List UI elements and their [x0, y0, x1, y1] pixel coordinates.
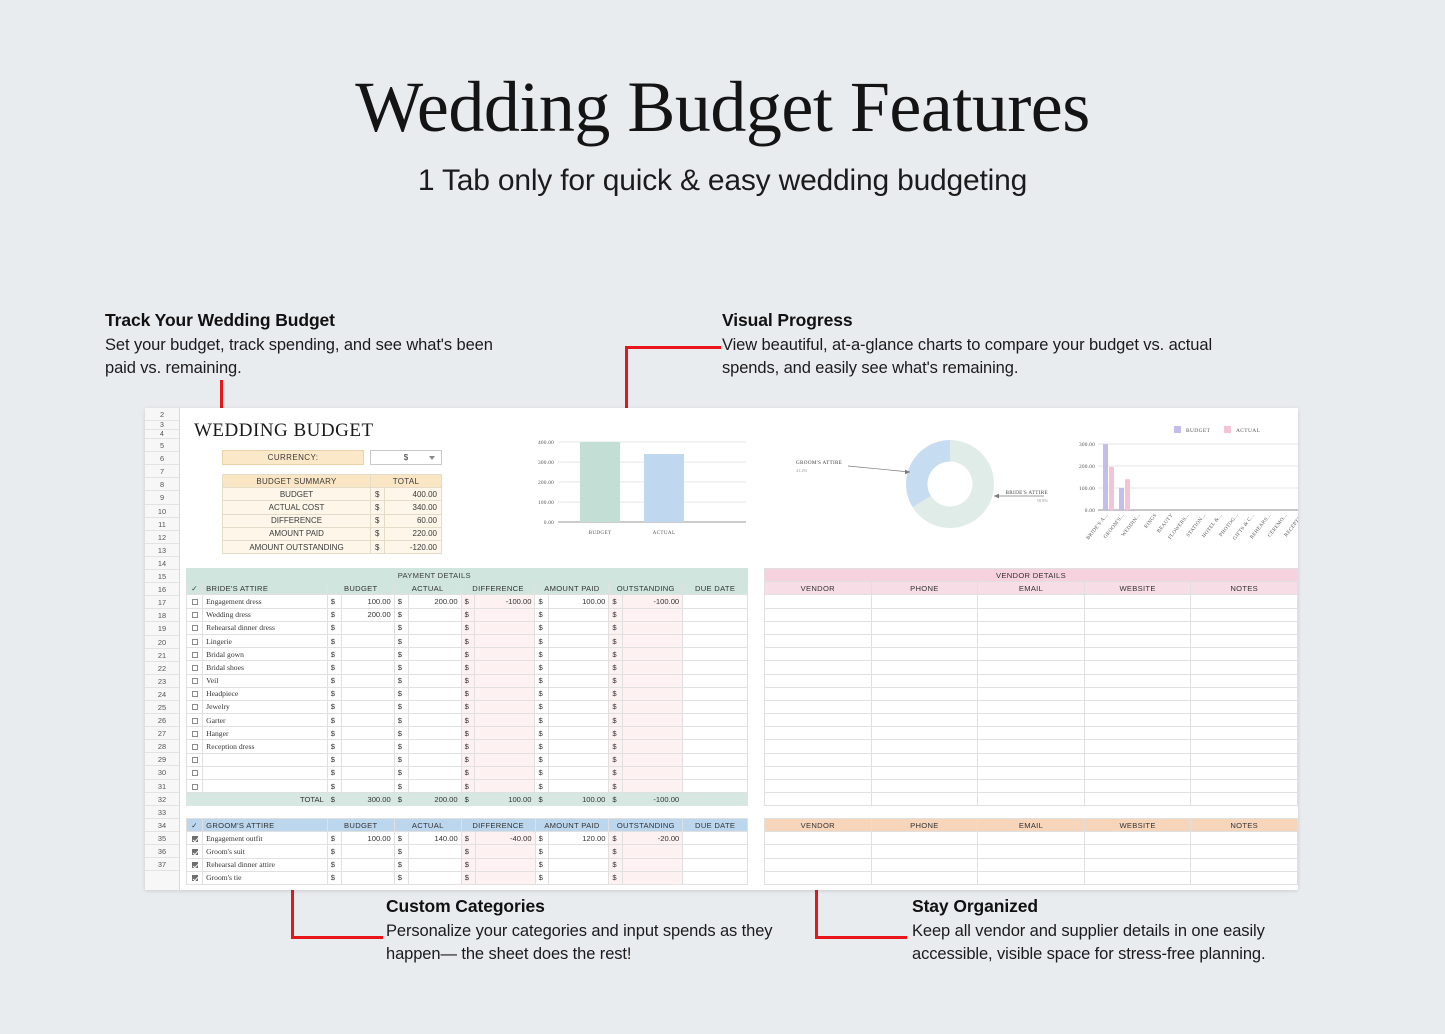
- chevron-down-icon[interactable]: [429, 456, 435, 460]
- row-number[interactable]: 24: [145, 688, 179, 701]
- vendor-row[interactable]: [765, 608, 1298, 621]
- vendor-cell[interactable]: [1191, 648, 1298, 661]
- vendor-cell[interactable]: [765, 595, 872, 608]
- cell-amount[interactable]: [623, 634, 683, 647]
- cell-currency[interactable]: $: [461, 871, 475, 884]
- cell-currency[interactable]: $: [609, 595, 623, 608]
- cell-amount[interactable]: [623, 714, 683, 727]
- vendor-cell[interactable]: [1191, 871, 1298, 884]
- vendor-cell[interactable]: [1084, 700, 1191, 713]
- row-number[interactable]: 5: [145, 439, 179, 452]
- vendor-cell[interactable]: [978, 608, 1085, 621]
- vendor-row[interactable]: [765, 595, 1298, 608]
- cell-currency[interactable]: $: [327, 832, 341, 845]
- row-checkbox[interactable]: [192, 678, 198, 684]
- table-row[interactable]: $$$$$: [187, 753, 748, 766]
- row-number[interactable]: 31: [145, 780, 179, 793]
- vendor-cell[interactable]: [871, 753, 978, 766]
- cell-currency[interactable]: $: [394, 714, 408, 727]
- vendor-cell[interactable]: [1084, 661, 1191, 674]
- cell-due-date[interactable]: [683, 727, 748, 740]
- cell-amount[interactable]: [341, 780, 394, 793]
- cell-due-date[interactable]: [683, 648, 748, 661]
- vendor-cell[interactable]: [871, 714, 978, 727]
- cell-amount[interactable]: [475, 608, 535, 621]
- cell-amount[interactable]: [341, 621, 394, 634]
- cell-amount[interactable]: [341, 714, 394, 727]
- vendor-cell[interactable]: [1191, 661, 1298, 674]
- cell-amount[interactable]: [408, 714, 461, 727]
- vendor-row[interactable]: [765, 700, 1298, 713]
- cell-amount[interactable]: [623, 648, 683, 661]
- cell-amount[interactable]: [475, 871, 535, 884]
- cell-currency[interactable]: $: [327, 621, 341, 634]
- vendor-row[interactable]: [765, 740, 1298, 753]
- cell-currency[interactable]: $: [461, 714, 475, 727]
- row-checkbox[interactable]: [192, 875, 198, 881]
- cell-currency[interactable]: $: [535, 845, 549, 858]
- table-row[interactable]: Groom's suit$$$$$: [187, 845, 748, 858]
- vendor-cell[interactable]: [1084, 871, 1191, 884]
- vendor-cell[interactable]: [978, 700, 1085, 713]
- cell-amount[interactable]: [341, 727, 394, 740]
- vendor-cell[interactable]: [1084, 793, 1191, 806]
- cell-checkbox[interactable]: [187, 621, 203, 634]
- cell-amount[interactable]: [408, 740, 461, 753]
- cell-amount[interactable]: [623, 740, 683, 753]
- row-checkbox[interactable]: [192, 599, 198, 605]
- cell-category-name[interactable]: Bridal shoes: [203, 661, 328, 674]
- vendor-row[interactable]: [765, 714, 1298, 727]
- cell-checkbox[interactable]: [187, 700, 203, 713]
- cell-currency[interactable]: $: [327, 871, 341, 884]
- cell-amount[interactable]: [475, 634, 535, 647]
- cell-amount[interactable]: [408, 674, 461, 687]
- cell-currency[interactable]: $: [461, 687, 475, 700]
- vendor-cell[interactable]: [765, 714, 872, 727]
- row-number[interactable]: 20: [145, 636, 179, 649]
- cell-amount[interactable]: [549, 634, 609, 647]
- vendor-cell[interactable]: [871, 858, 978, 871]
- cell-amount[interactable]: [341, 687, 394, 700]
- cell-amount[interactable]: [475, 780, 535, 793]
- vendor-cell[interactable]: [765, 793, 872, 806]
- cell-checkbox[interactable]: [187, 845, 203, 858]
- vendor-row[interactable]: [765, 766, 1298, 779]
- cell-amount[interactable]: [408, 845, 461, 858]
- cell-category-name[interactable]: Groom's suit: [203, 845, 328, 858]
- cell-amount[interactable]: 100.00: [549, 595, 609, 608]
- table-row[interactable]: Engagement outfit$100.00$140.00$-40.00$1…: [187, 832, 748, 845]
- vendor-cell[interactable]: [765, 608, 872, 621]
- cell-currency[interactable]: $: [609, 714, 623, 727]
- vendor-cell[interactable]: [871, 700, 978, 713]
- row-checkbox[interactable]: [192, 836, 198, 842]
- cell-currency[interactable]: $: [535, 621, 549, 634]
- row-number[interactable]: 17: [145, 596, 179, 609]
- cell-category-name[interactable]: Bridal gown: [203, 648, 328, 661]
- cell-amount[interactable]: [475, 727, 535, 740]
- table-row[interactable]: Veil$$$$$: [187, 674, 748, 687]
- cell-currency[interactable]: $: [394, 608, 408, 621]
- row-checkbox[interactable]: [192, 718, 198, 724]
- vendor-cell[interactable]: [765, 858, 872, 871]
- cell-amount[interactable]: [549, 740, 609, 753]
- vendor-cell[interactable]: [765, 700, 872, 713]
- vendor-cell[interactable]: [765, 634, 872, 647]
- vendor-cell[interactable]: [978, 740, 1085, 753]
- row-number[interactable]: 16: [145, 583, 179, 596]
- cell-amount[interactable]: [408, 753, 461, 766]
- cell-amount[interactable]: [475, 648, 535, 661]
- table-row[interactable]: Groom's tie$$$$$: [187, 871, 748, 884]
- cell-due-date[interactable]: [683, 871, 748, 884]
- cell-amount[interactable]: [623, 845, 683, 858]
- row-number[interactable]: 15: [145, 570, 179, 583]
- cell-amount[interactable]: [623, 700, 683, 713]
- cell-checkbox[interactable]: [187, 595, 203, 608]
- vendor-row[interactable]: [765, 648, 1298, 661]
- vendor-details-table-brides[interactable]: VENDOR DETAILSVENDORPHONEEMAILWEBSITENOT…: [764, 568, 1298, 806]
- cell-amount[interactable]: [549, 700, 609, 713]
- cell-amount[interactable]: 200.00: [341, 608, 394, 621]
- cell-currency[interactable]: $: [535, 740, 549, 753]
- cell-currency[interactable]: $: [461, 595, 475, 608]
- row-checkbox[interactable]: [192, 784, 198, 790]
- vendor-cell[interactable]: [1084, 832, 1191, 845]
- cell-amount[interactable]: [549, 871, 609, 884]
- vendor-cell[interactable]: [871, 871, 978, 884]
- cell-currency[interactable]: $: [609, 845, 623, 858]
- cell-checkbox[interactable]: [187, 780, 203, 793]
- cell-currency[interactable]: $: [609, 832, 623, 845]
- cell-currency[interactable]: $: [535, 700, 549, 713]
- cell-due-date[interactable]: [683, 661, 748, 674]
- table-row[interactable]: Lingerie$$$$$: [187, 634, 748, 647]
- table-row[interactable]: Rehearsal dinner attire$$$$$: [187, 858, 748, 871]
- cell-currency[interactable]: $: [535, 634, 549, 647]
- vendor-cell[interactable]: [765, 780, 872, 793]
- cell-category-name[interactable]: Veil: [203, 674, 328, 687]
- vendor-cell[interactable]: [1084, 780, 1191, 793]
- vendor-cell[interactable]: [765, 674, 872, 687]
- vendor-cell[interactable]: [871, 766, 978, 779]
- cell-currency[interactable]: $: [609, 871, 623, 884]
- cell-currency[interactable]: $: [609, 634, 623, 647]
- row-number[interactable]: 19: [145, 622, 179, 635]
- cell-amount[interactable]: [623, 871, 683, 884]
- table-row[interactable]: Reception dress$$$$$: [187, 740, 748, 753]
- vendor-cell[interactable]: [765, 687, 872, 700]
- row-number[interactable]: 21: [145, 649, 179, 662]
- row-number[interactable]: 37: [145, 858, 179, 871]
- cell-amount[interactable]: [341, 674, 394, 687]
- cell-amount[interactable]: [623, 661, 683, 674]
- cell-currency[interactable]: $: [461, 621, 475, 634]
- vendor-cell[interactable]: [978, 832, 1085, 845]
- cell-amount[interactable]: [408, 621, 461, 634]
- cell-category-name[interactable]: Engagement dress: [203, 595, 328, 608]
- row-number[interactable]: 35: [145, 832, 179, 845]
- cell-amount[interactable]: [549, 780, 609, 793]
- table-row[interactable]: Jewelry$$$$$: [187, 700, 748, 713]
- table-row[interactable]: Rehearsal dinner dress$$$$$: [187, 621, 748, 634]
- row-number[interactable]: 22: [145, 662, 179, 675]
- cell-currency[interactable]: $: [394, 595, 408, 608]
- cell-currency[interactable]: $: [327, 753, 341, 766]
- cell-amount[interactable]: [475, 753, 535, 766]
- cell-currency[interactable]: $: [461, 845, 475, 858]
- cell-currency[interactable]: $: [609, 700, 623, 713]
- cell-currency[interactable]: $: [535, 608, 549, 621]
- cell-amount[interactable]: [408, 634, 461, 647]
- cell-currency[interactable]: $: [327, 740, 341, 753]
- row-number[interactable]: 2: [145, 408, 179, 421]
- vendor-cell[interactable]: [1191, 753, 1298, 766]
- cell-amount[interactable]: [341, 871, 394, 884]
- cell-currency[interactable]: $: [609, 621, 623, 634]
- cell-currency[interactable]: $: [535, 753, 549, 766]
- vendor-cell[interactable]: [871, 621, 978, 634]
- cell-amount[interactable]: 100.00: [341, 832, 394, 845]
- vendor-cell[interactable]: [765, 648, 872, 661]
- vendor-row[interactable]: [765, 832, 1298, 845]
- cell-currency[interactable]: $: [394, 871, 408, 884]
- brides-attire-table[interactable]: PAYMENT DETAILS✓BRIDE'S ATTIREBUDGETACTU…: [186, 568, 748, 806]
- currency-dropdown[interactable]: $: [370, 450, 442, 465]
- row-number[interactable]: 3: [145, 421, 179, 430]
- cell-due-date[interactable]: [683, 608, 748, 621]
- cell-currency[interactable]: $: [461, 858, 475, 871]
- cell-checkbox[interactable]: [187, 648, 203, 661]
- cell-currency[interactable]: $: [394, 648, 408, 661]
- vendor-cell[interactable]: [978, 858, 1085, 871]
- cell-currency[interactable]: $: [609, 766, 623, 779]
- cell-amount[interactable]: -100.00: [475, 595, 535, 608]
- row-number[interactable]: 32: [145, 793, 179, 806]
- cell-checkbox[interactable]: [187, 832, 203, 845]
- cell-amount[interactable]: 140.00: [408, 832, 461, 845]
- cell-currency[interactable]: $: [535, 780, 549, 793]
- cell-checkbox[interactable]: [187, 753, 203, 766]
- cell-category-name[interactable]: Engagement outfit: [203, 832, 328, 845]
- cell-checkbox[interactable]: [187, 661, 203, 674]
- cell-amount[interactable]: [623, 687, 683, 700]
- cell-currency[interactable]: $: [394, 753, 408, 766]
- vendor-cell[interactable]: [765, 845, 872, 858]
- row-number[interactable]: 25: [145, 701, 179, 714]
- vendor-cell[interactable]: [978, 674, 1085, 687]
- row-number[interactable]: 18: [145, 609, 179, 622]
- cell-amount[interactable]: 200.00: [408, 595, 461, 608]
- cell-amount[interactable]: -40.00: [475, 832, 535, 845]
- row-number[interactable]: 10: [145, 505, 179, 518]
- cell-amount[interactable]: [623, 780, 683, 793]
- cell-currency[interactable]: $: [609, 727, 623, 740]
- cell-currency[interactable]: $: [461, 700, 475, 713]
- vendor-cell[interactable]: [978, 634, 1085, 647]
- cell-checkbox[interactable]: [187, 634, 203, 647]
- vendor-cell[interactable]: [1191, 687, 1298, 700]
- cell-amount[interactable]: [408, 858, 461, 871]
- vendor-cell[interactable]: [1191, 780, 1298, 793]
- table-row[interactable]: Garter$$$$$: [187, 714, 748, 727]
- vendor-cell[interactable]: [1191, 727, 1298, 740]
- cell-amount[interactable]: [341, 648, 394, 661]
- cell-amount[interactable]: [475, 674, 535, 687]
- vendor-cell[interactable]: [1084, 740, 1191, 753]
- vendor-cell[interactable]: [1191, 740, 1298, 753]
- cell-currency[interactable]: $: [394, 832, 408, 845]
- row-checkbox[interactable]: [192, 704, 198, 710]
- row-checkbox[interactable]: [192, 665, 198, 671]
- cell-due-date[interactable]: [683, 780, 748, 793]
- cell-currency[interactable]: $: [394, 674, 408, 687]
- cell-due-date[interactable]: [683, 621, 748, 634]
- cell-currency[interactable]: $: [394, 634, 408, 647]
- vendor-cell[interactable]: [871, 648, 978, 661]
- vendor-details-table-grooms[interactable]: VENDORPHONEEMAILWEBSITENOTES: [764, 818, 1298, 885]
- cell-category-name[interactable]: Rehearsal dinner dress: [203, 621, 328, 634]
- table-row[interactable]: Bridal shoes$$$$$: [187, 661, 748, 674]
- vendor-cell[interactable]: [1191, 674, 1298, 687]
- table-row[interactable]: $$$$$: [187, 766, 748, 779]
- vendor-row[interactable]: [765, 634, 1298, 647]
- cell-currency[interactable]: $: [535, 648, 549, 661]
- vendor-cell[interactable]: [978, 766, 1085, 779]
- cell-category-name[interactable]: Hanger: [203, 727, 328, 740]
- vendor-row[interactable]: [765, 727, 1298, 740]
- row-number[interactable]: 6: [145, 452, 179, 465]
- cell-category-name[interactable]: Wedding dress: [203, 608, 328, 621]
- cell-amount[interactable]: [623, 727, 683, 740]
- vendor-cell[interactable]: [765, 871, 872, 884]
- cell-due-date[interactable]: [683, 753, 748, 766]
- cell-currency[interactable]: $: [535, 727, 549, 740]
- cell-amount[interactable]: [408, 687, 461, 700]
- vendor-cell[interactable]: [765, 727, 872, 740]
- vendor-cell[interactable]: [871, 661, 978, 674]
- vendor-cell[interactable]: [871, 674, 978, 687]
- cell-currency[interactable]: $: [461, 634, 475, 647]
- cell-amount[interactable]: [475, 700, 535, 713]
- cell-currency[interactable]: $: [394, 845, 408, 858]
- vendor-cell[interactable]: [871, 727, 978, 740]
- vendor-cell[interactable]: [978, 595, 1085, 608]
- cell-amount[interactable]: [475, 766, 535, 779]
- vendor-cell[interactable]: [1191, 793, 1298, 806]
- currency-row[interactable]: CURRENCY: $: [222, 450, 442, 465]
- cell-currency[interactable]: $: [394, 700, 408, 713]
- cell-amount[interactable]: [549, 661, 609, 674]
- cell-due-date[interactable]: [683, 674, 748, 687]
- row-number[interactable]: 11: [145, 518, 179, 531]
- cell-currency[interactable]: $: [609, 661, 623, 674]
- row-checkbox[interactable]: [192, 652, 198, 658]
- vendor-cell[interactable]: [765, 832, 872, 845]
- cell-checkbox[interactable]: [187, 608, 203, 621]
- table-row[interactable]: Bridal gown$$$$$: [187, 648, 748, 661]
- row-checkbox[interactable]: [192, 731, 198, 737]
- cell-currency[interactable]: $: [535, 766, 549, 779]
- table-row[interactable]: Headpiece$$$$$: [187, 687, 748, 700]
- cell-currency[interactable]: $: [327, 858, 341, 871]
- cell-amount[interactable]: [475, 740, 535, 753]
- cell-checkbox[interactable]: [187, 740, 203, 753]
- cell-amount[interactable]: [475, 714, 535, 727]
- vendor-cell[interactable]: [871, 595, 978, 608]
- cell-checkbox[interactable]: [187, 727, 203, 740]
- vendor-cell[interactable]: [978, 871, 1085, 884]
- cell-currency[interactable]: $: [394, 780, 408, 793]
- row-checkbox[interactable]: [192, 770, 198, 776]
- cell-amount[interactable]: [623, 766, 683, 779]
- cell-category-name[interactable]: Garter: [203, 714, 328, 727]
- cell-amount[interactable]: [475, 687, 535, 700]
- vendor-cell[interactable]: [978, 845, 1085, 858]
- cell-amount[interactable]: [623, 858, 683, 871]
- row-number[interactable]: 12: [145, 531, 179, 544]
- cell-amount[interactable]: [341, 858, 394, 871]
- cell-currency[interactable]: $: [609, 608, 623, 621]
- cell-category-name[interactable]: Jewelry: [203, 700, 328, 713]
- cell-due-date[interactable]: [683, 740, 748, 753]
- row-number[interactable]: 36: [145, 845, 179, 858]
- row-number[interactable]: 27: [145, 727, 179, 740]
- vendor-cell[interactable]: [978, 793, 1085, 806]
- row-checkbox[interactable]: [192, 744, 198, 750]
- cell-due-date[interactable]: [683, 858, 748, 871]
- cell-amount[interactable]: [408, 727, 461, 740]
- cell-category-name[interactable]: Groom's tie: [203, 871, 328, 884]
- row-number[interactable]: 28: [145, 740, 179, 753]
- cell-amount[interactable]: [549, 687, 609, 700]
- vendor-cell[interactable]: [871, 845, 978, 858]
- cell-amount[interactable]: [623, 674, 683, 687]
- spreadsheet[interactable]: 2345678910111213141516171819202122232425…: [145, 408, 1298, 890]
- vendor-cell[interactable]: [1084, 608, 1191, 621]
- vendor-cell[interactable]: [765, 621, 872, 634]
- cell-due-date[interactable]: [683, 595, 748, 608]
- cell-currency[interactable]: $: [535, 661, 549, 674]
- cell-currency[interactable]: $: [327, 595, 341, 608]
- cell-amount[interactable]: [549, 674, 609, 687]
- cell-amount[interactable]: [623, 621, 683, 634]
- cell-currency[interactable]: $: [609, 740, 623, 753]
- cell-currency[interactable]: $: [327, 780, 341, 793]
- cell-currency[interactable]: $: [461, 753, 475, 766]
- cell-due-date[interactable]: [683, 766, 748, 779]
- cell-currency[interactable]: $: [327, 608, 341, 621]
- vendor-cell[interactable]: [1084, 595, 1191, 608]
- cell-amount[interactable]: 100.00: [341, 595, 394, 608]
- row-number[interactable]: 23: [145, 675, 179, 688]
- cell-amount[interactable]: [408, 780, 461, 793]
- vendor-row[interactable]: [765, 858, 1298, 871]
- cell-currency[interactable]: $: [461, 648, 475, 661]
- row-checkbox[interactable]: [192, 612, 198, 618]
- row-number[interactable]: 8: [145, 478, 179, 491]
- vendor-row[interactable]: [765, 871, 1298, 884]
- vendor-cell[interactable]: [1191, 595, 1298, 608]
- cell-currency[interactable]: $: [535, 714, 549, 727]
- vendor-cell[interactable]: [978, 621, 1085, 634]
- vendor-row[interactable]: [765, 780, 1298, 793]
- cell-category-name[interactable]: [203, 753, 328, 766]
- cell-category-name[interactable]: Reception dress: [203, 740, 328, 753]
- cell-currency[interactable]: $: [461, 740, 475, 753]
- cell-amount[interactable]: [549, 714, 609, 727]
